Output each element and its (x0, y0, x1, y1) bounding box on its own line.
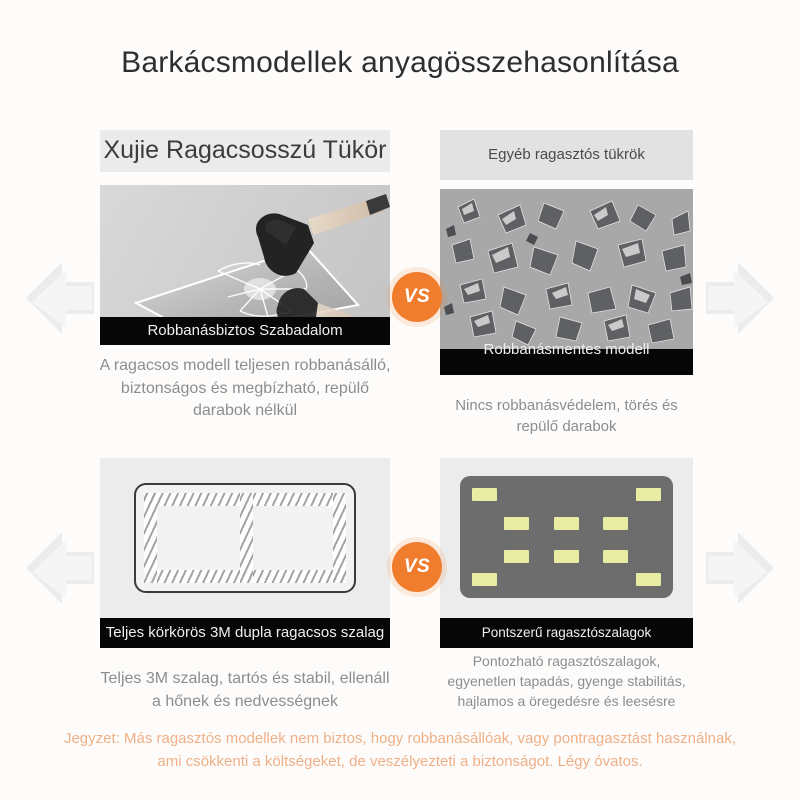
spot-adhesive-illustration (440, 458, 693, 618)
full-perimeter-tape-illustration (100, 458, 390, 618)
tape-strip-left (144, 493, 157, 583)
adhesive-dot (504, 550, 529, 563)
row2-left-image: Teljes körkörös 3M dupla ragacsos szalag (100, 458, 390, 618)
row1-left-caption: Robbanásbiztos Szabadalom (100, 317, 390, 345)
mirror-back-panel (460, 476, 673, 598)
adhesive-dot (603, 517, 628, 530)
row1-right-heading: Egyéb ragasztós tükrök (440, 130, 693, 180)
arrow-right-icon (700, 252, 778, 344)
row1-right-column: Egyéb ragasztós tükrök (440, 130, 693, 438)
comparison-infographic: Barkácsmodellek anyagösszehasonlítása Xu… (0, 0, 800, 800)
row2-left-caption: Teljes körkörös 3M dupla ragacsos szalag (100, 618, 390, 648)
row2-left-column: Teljes körkörös 3M dupla ragacsos szalag… (100, 400, 390, 713)
adhesive-dot (504, 517, 529, 530)
adhesive-dot (472, 488, 497, 501)
adhesive-dot (554, 550, 579, 563)
vs-badge-row1: VS (392, 272, 442, 322)
row2-right-description: Pontozható ragasztószalagok, egyenetlen … (440, 650, 693, 712)
adhesive-dot (472, 573, 497, 586)
vs-badge-row2: VS (392, 542, 442, 592)
adhesive-dot (636, 488, 661, 501)
adhesive-dot (603, 550, 628, 563)
row2-right-caption: Pontszerű ragasztószalagok (440, 618, 693, 648)
row1-right-caption-band (440, 349, 693, 375)
adhesive-dot (554, 517, 579, 530)
footer-note: Jegyzet: Más ragasztós modellek nem bizt… (50, 728, 750, 773)
arrow-left-icon (22, 252, 100, 344)
arrow-left-icon (22, 522, 100, 614)
tape-strip-middle (240, 493, 253, 583)
tape-strip-right (333, 493, 346, 583)
row1-right-image: Robbanásmentes modell (440, 189, 693, 349)
adhesive-dot (636, 573, 661, 586)
arrow-right-icon (700, 522, 778, 614)
row1-left-column: Xujie Ragacsosszú Tükör (100, 130, 390, 423)
row2-right-column: Pontszerű ragasztószalagok Pontozható ra… (440, 400, 693, 712)
page-title: Barkácsmodellek anyagösszehasonlítása (0, 46, 800, 80)
row1-left-heading: Xujie Ragacsosszú Tükör (100, 130, 390, 172)
row1-left-image: Robbanásbiztos Szabadalom (100, 185, 390, 345)
row2-right-image: Pontszerű ragasztószalagok (440, 458, 693, 618)
shattered-glass-illustration (440, 189, 693, 349)
row2-left-description: Teljes 3M szalag, tartós és stabil, elle… (95, 658, 395, 713)
mirror-back-outline (134, 483, 356, 593)
